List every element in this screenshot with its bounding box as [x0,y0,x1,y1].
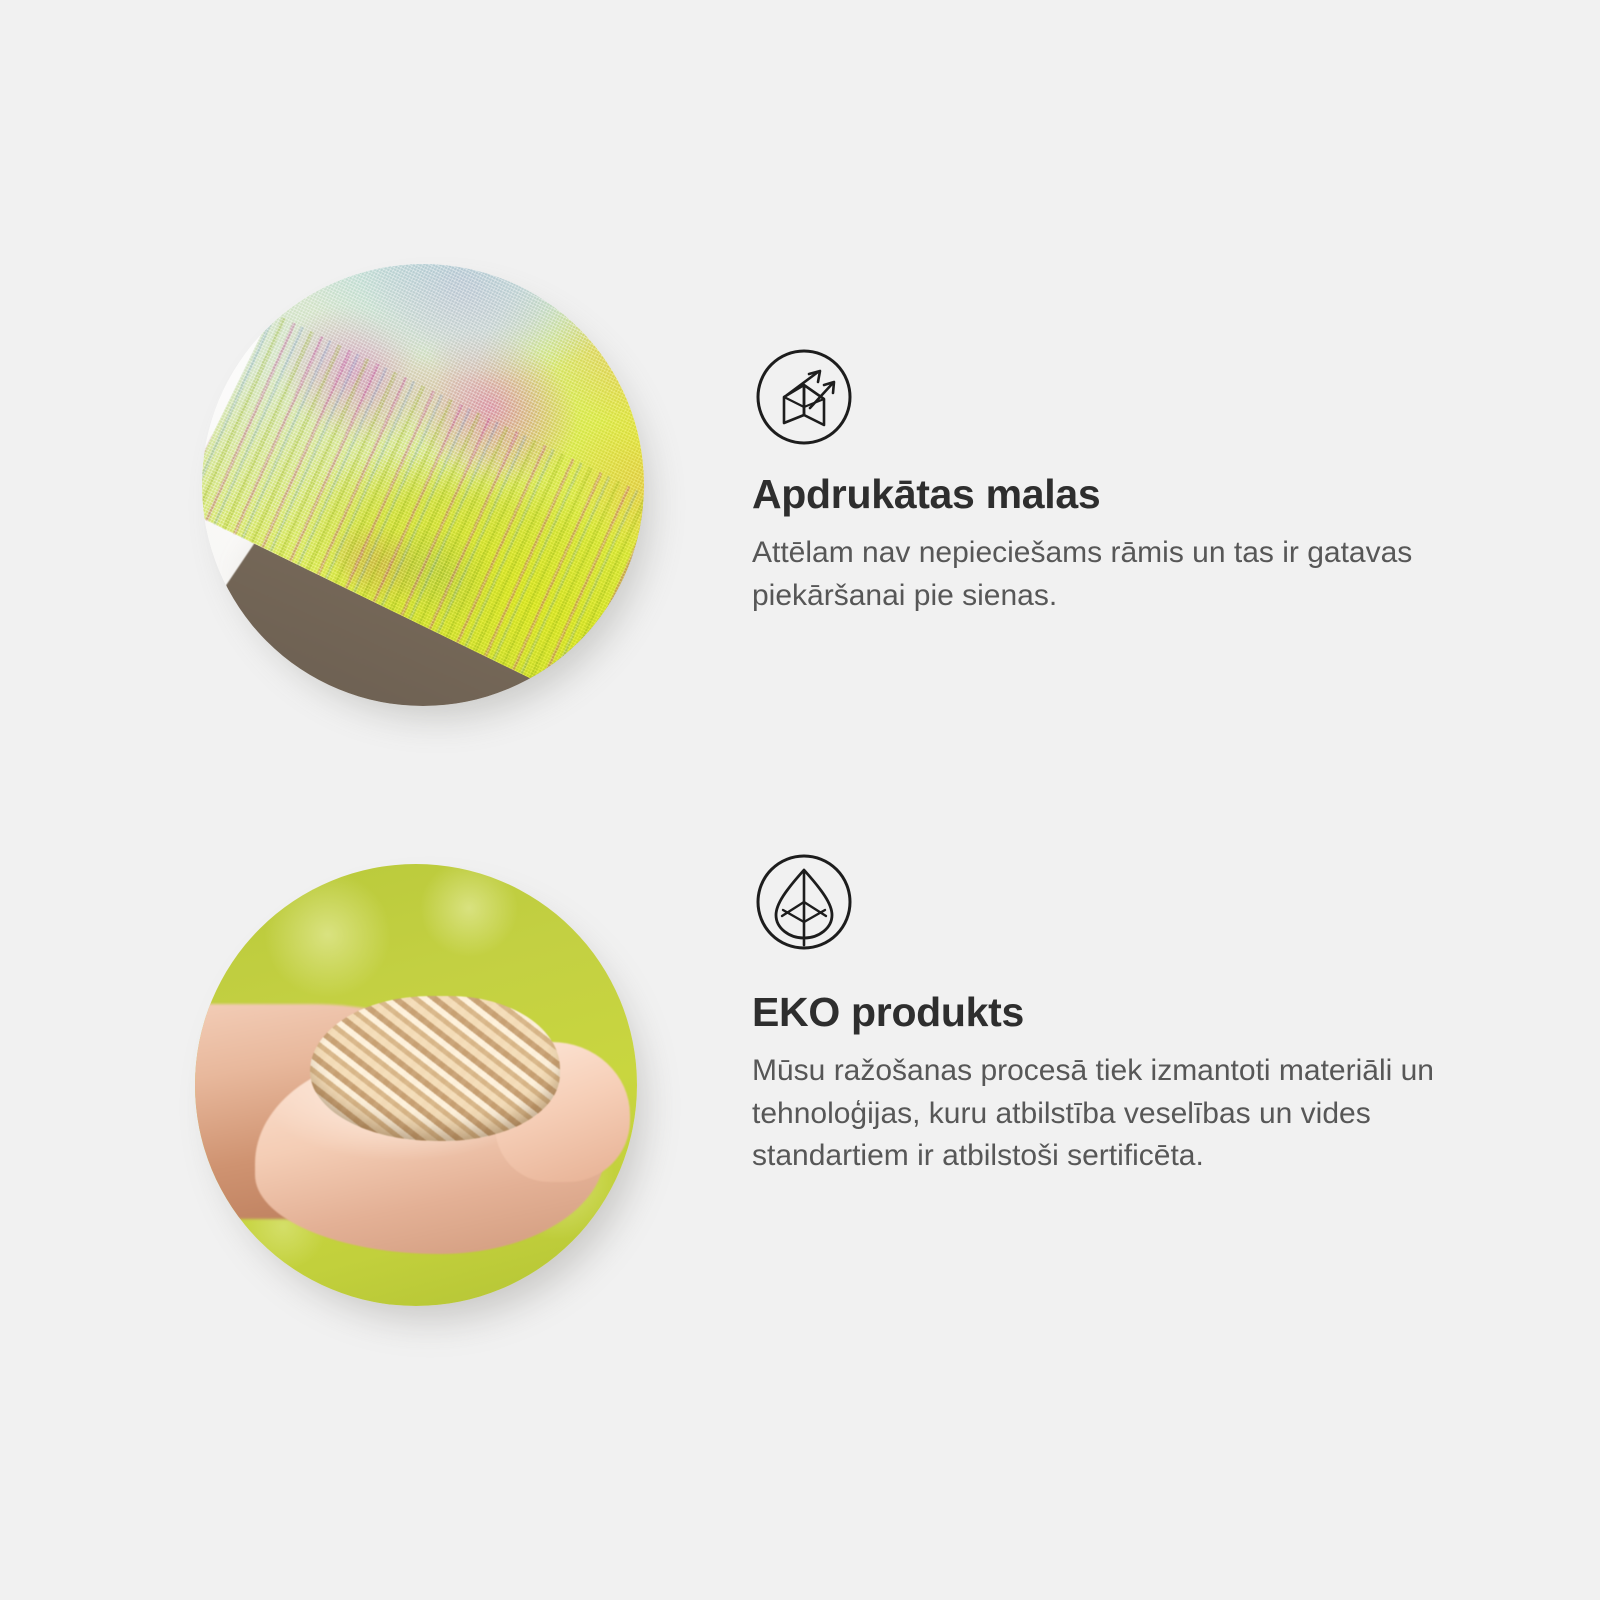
feature-media-printed-edges [0,250,700,750]
wood-chips-pile [310,996,560,1141]
feature-title-printed-edges: Apdrukātas malas [752,472,1100,517]
feature-block-printed-edges: Apdrukātas malas Attēlam nav nepieciešam… [0,250,1600,750]
canvas-wrapped-edges-icon [752,345,856,449]
hand-holding-wood-chips-photo [195,864,637,1306]
feature-title-eco-product: EKO produkts [752,990,1024,1035]
canvas-print-corner-photo [202,264,644,706]
leaf-icon [752,850,856,954]
eco-photo-green-bokeh-backdrop [195,864,637,1306]
feature-description-eco-product: Mūsu ražošanas procesā tiek izmantoti ma… [752,1050,1472,1178]
feature-block-eco-product: EKO produkts Mūsu ražošanas procesā tiek… [0,850,1600,1350]
canvas-photo-backdrop [202,264,644,706]
feature-media-eco-product [0,850,700,1350]
product-features-page: Apdrukātas malas Attēlam nav nepieciešam… [0,0,1600,1600]
feature-description-printed-edges: Attēlam nav nepieciešams rāmis un tas ir… [752,532,1472,617]
